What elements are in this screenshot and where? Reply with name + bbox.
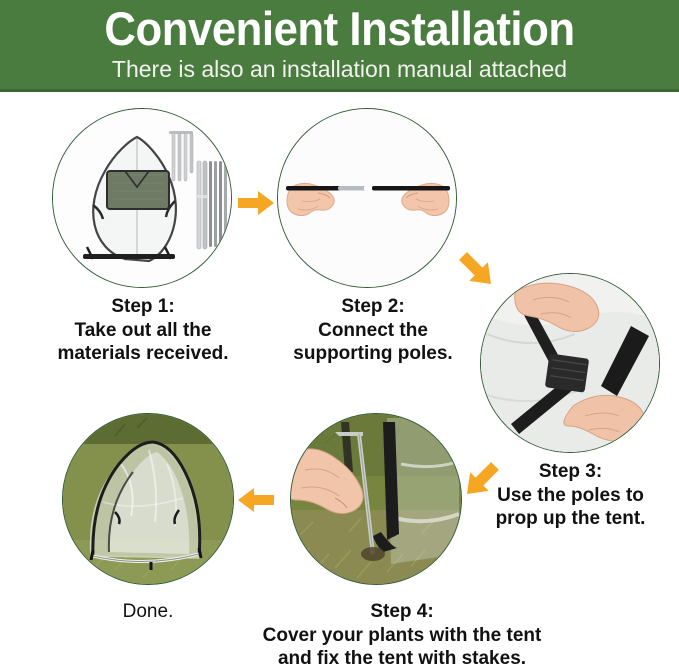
tent-and-poles-photo [52,108,232,288]
finished-tent-photo [62,413,234,585]
step-4-caption: Step 4: Cover your plants with the tent … [232,600,572,671]
stake-into-ground-photo [290,413,462,585]
header-banner: Convenient Installation There is also an… [0,0,679,92]
arrow-step1-to-step2 [236,188,276,218]
connecting-poles-photo [277,108,457,288]
step-2-caption: Step 2: Connect the supporting poles. [268,295,478,366]
step-3-caption: Step 3: Use the poles to prop up the ten… [468,460,673,531]
step-1-caption: Step 1: Take out all the materials recei… [28,295,258,366]
done-caption: Done. [56,600,240,624]
prop-up-tent-photo [480,273,660,453]
arrow-step4-to-done [236,485,276,515]
page-subtitle: There is also an installation manual att… [0,55,679,83]
page-title: Convenient Installation [24,0,655,55]
